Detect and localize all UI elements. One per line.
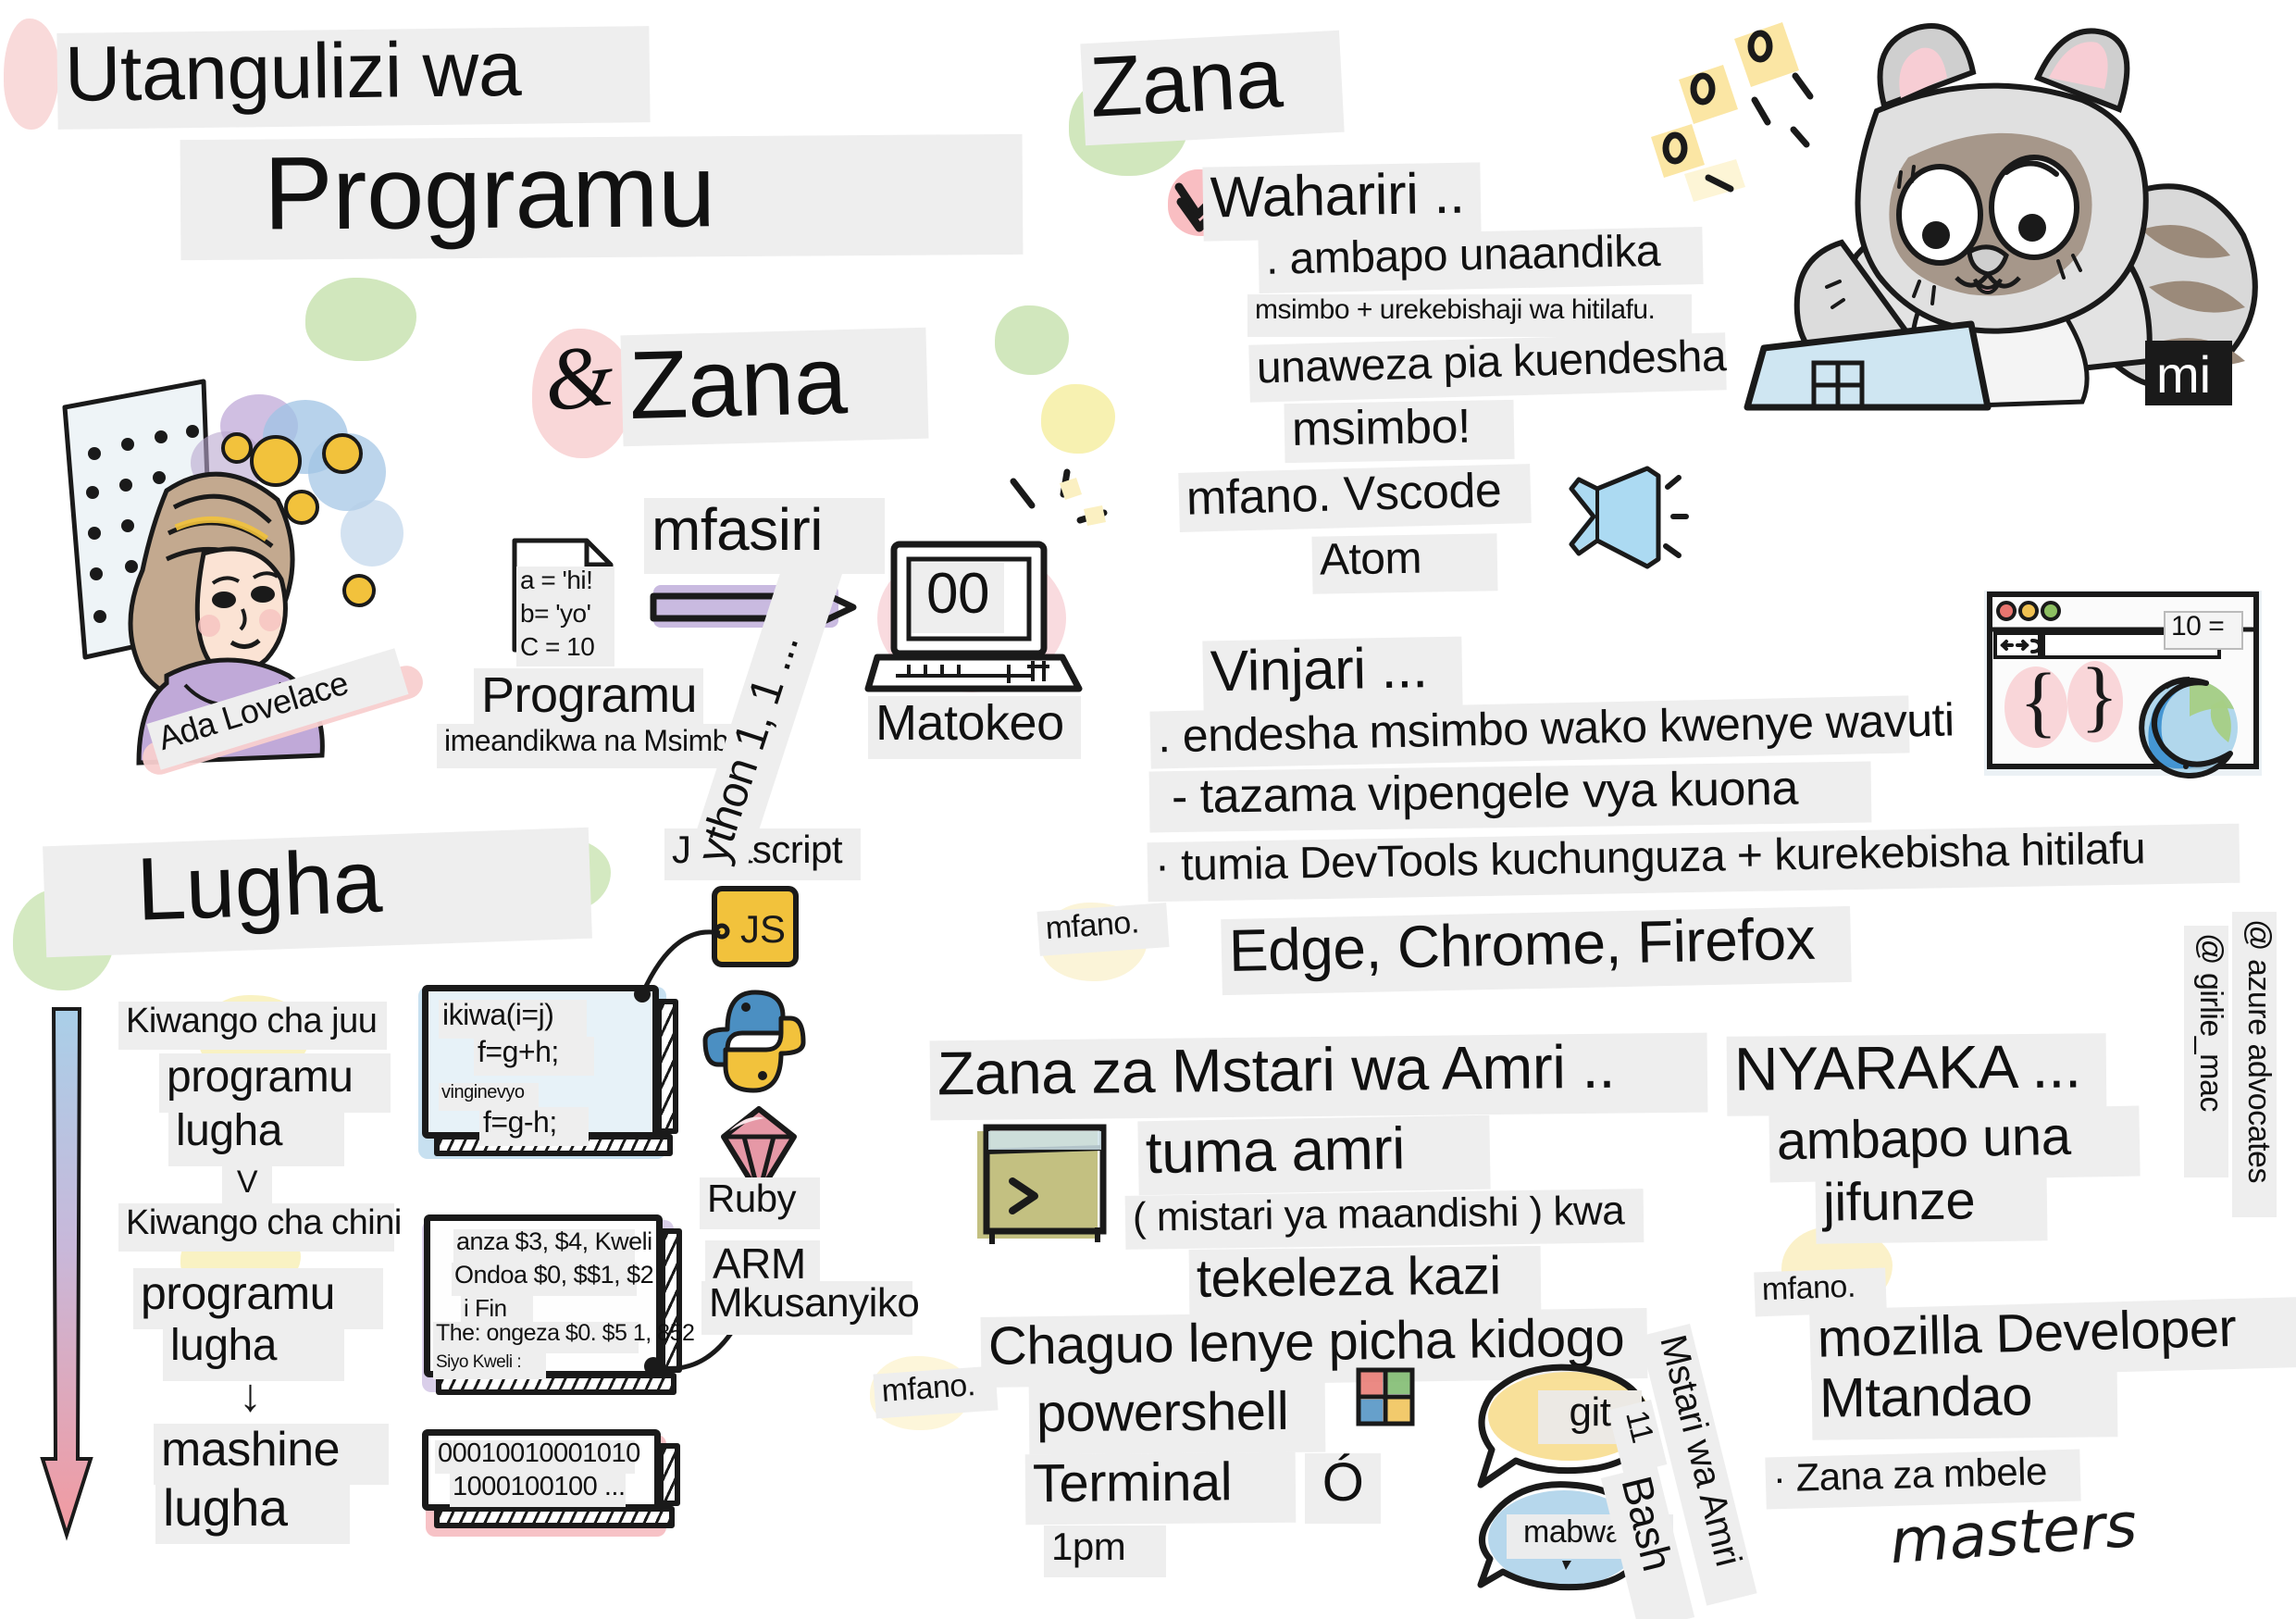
svg-text:}: } [2080, 651, 2118, 740]
cli-line-6: Terminal [1025, 1452, 1297, 1526]
arm-label-2: Mkusanyiko [701, 1281, 912, 1335]
terminal-prompt-icon [970, 1118, 1114, 1257]
zana-heading: Zana [1080, 31, 1344, 146]
browsers-title: Vinjari ... [1202, 637, 1462, 716]
code-high-connector [583, 926, 731, 1000]
title-line-3: Zana [620, 328, 928, 447]
editors-line-6: Atom [1311, 533, 1497, 593]
editors-line-2: msimbo + urekebishaji wa hitilafu. [1247, 294, 1692, 337]
code-high-line-1: ikiwa(i=j) [439, 1000, 587, 1039]
lugha-machine-l1: mashine [154, 1424, 389, 1485]
credit-handle-girliemac: @ girlie_mac [2184, 926, 2228, 1177]
editors-title: Wahariri .. [1202, 162, 1481, 241]
ruby-label: Ruby [700, 1177, 820, 1229]
wash-blob-green-title [305, 278, 416, 361]
lugha-down-arrow: ↓ [239, 1368, 262, 1422]
browser-url-value: 10 = [2164, 611, 2243, 650]
raccoon-tail-label: mi [2156, 344, 2211, 405]
browsers-line-4: Edge, Chrome, Firefox [1221, 906, 1852, 995]
browsers-line-2: - tazama vipengele vya kuona [1149, 762, 1872, 833]
docs-line-2: jifunze [1815, 1170, 2047, 1243]
code-high-line-2: f=g+h; [474, 1037, 594, 1076]
cli-line-5: powershell [1029, 1382, 1326, 1455]
output-label: Matokeo [868, 696, 1081, 759]
cli-heading: Zana za Mstari wa Amri .. [930, 1033, 1708, 1121]
cli-example-label: mfano. [873, 1365, 998, 1418]
program-code-line-1: a = 'hi! [516, 567, 614, 600]
code-high-line-4: f=g-h; [479, 1107, 589, 1146]
cli-line-7: 1pm [1044, 1526, 1166, 1577]
cli-line-1: tuma amri [1137, 1115, 1490, 1196]
code-binary-line-2: 1000100100 ... [450, 1474, 626, 1507]
lugha-v-mark: V [222, 1164, 272, 1207]
docs-heading: NYARAKA ... [1727, 1033, 2107, 1116]
mfasiri-label: mfasiri [644, 498, 885, 574]
credit-handle-azure: @ azure advocates [2232, 912, 2277, 1217]
title-line-2: Programu [180, 134, 1024, 260]
title-ampersand: & [539, 322, 618, 431]
lugha-high-level-l3: lugha [168, 1107, 344, 1166]
editors-line-5: mfano. Vscode [1178, 464, 1532, 532]
editors-line-3: unaweza pia kuendesha [1248, 332, 1726, 402]
output-sparkle-icon [995, 472, 1124, 620]
browsers-line-3: · tumia DevTools kuchunguza + kurekebish… [1148, 824, 2240, 903]
apple-glyph: Ó [1305, 1453, 1381, 1524]
code-binary-card-shadow [434, 1506, 675, 1528]
lugha-low-level-label: Kiwango cha chini [118, 1203, 394, 1252]
lugha-heading: Lugha [43, 828, 592, 958]
raccoon-sparkle-icon [1657, 11, 1934, 224]
code-asm-line-1: anza $3, $4, Kweli [453, 1229, 635, 1263]
abstraction-gradient-arrow [37, 1005, 102, 1542]
output-screen-value: 00 [912, 563, 1004, 633]
program-code-line-2: b= 'yo' [516, 600, 614, 633]
windows-icon [1351, 1363, 1420, 1435]
code-asm-line-5: Siyo Kweli : [433, 1353, 546, 1379]
wash-blob-pink-topleft [4, 19, 59, 130]
code-high-card-side [656, 999, 678, 1134]
lugha-high-level-label: Kiwango cha juu [118, 1002, 387, 1050]
wash-blob-green-zana-sub [995, 305, 1069, 375]
program-code-line-3: C = 10 [516, 633, 614, 666]
lugha-high-level-l2: programu [159, 1053, 391, 1113]
docs-line-4: Mtandao [1812, 1364, 2118, 1439]
code-asm-line-2: Ondoa $0, $$1, $2 [452, 1263, 637, 1296]
code-binary-line-1: 00010010001010 [435, 1440, 635, 1474]
code-asm-line-4: The: ongeza $0. $5 1, 852 [433, 1322, 639, 1353]
vscode-icon [1564, 461, 1684, 572]
svg-text:JS: JS [740, 907, 786, 951]
cli-line-2: ( mistari ya maandishi ) kwa [1125, 1189, 1644, 1250]
code-binary-card-side [658, 1443, 680, 1506]
browsers-example-label: mfano. [1036, 903, 1169, 956]
title-line-1: Utangulizi wa [56, 26, 650, 130]
svg-text:{: { [2019, 656, 2057, 745]
program-label: Programu [474, 668, 703, 731]
sketchnote-canvas: Utangulizi wa Programu & Zana [0, 0, 2296, 1619]
wash-blob-yellow-zana-sub [1041, 384, 1115, 454]
lugha-machine-l2: lugha [155, 1479, 350, 1544]
editors-line-4: msimbo! [1284, 400, 1514, 463]
editors-line-1: . ambapo unaandika [1258, 227, 1703, 293]
